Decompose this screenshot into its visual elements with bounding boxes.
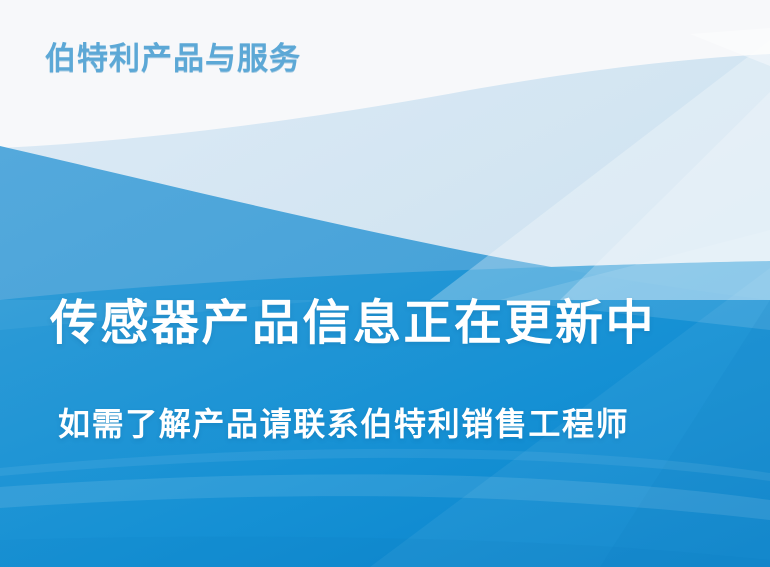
headline-text: 传感器产品信息正在更新中 [50, 293, 656, 353]
product-service-banner: 伯特利产品与服务 传感器产品信息正在更新中 如需了解产品请联系伯特利销售工程师 [0, 0, 770, 567]
page-title: 伯特利产品与服务 [45, 41, 301, 78]
banner-text-layer: 伯特利产品与服务 传感器产品信息正在更新中 如需了解产品请联系伯特利销售工程师 [0, 0, 770, 567]
subheadline-text: 如需了解产品请联系伯特利销售工程师 [58, 404, 629, 446]
